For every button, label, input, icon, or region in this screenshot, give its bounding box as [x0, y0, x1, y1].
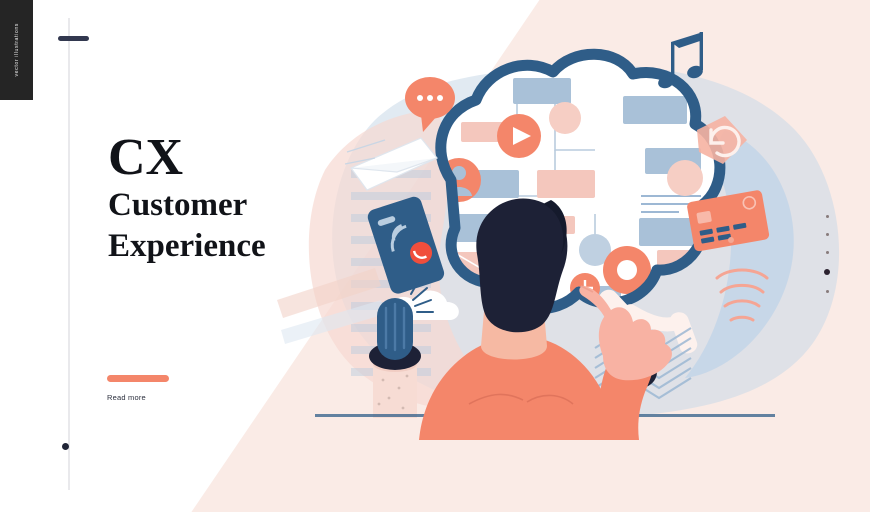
- rail-marker-dot: [62, 443, 69, 450]
- read-more-link[interactable]: Read more: [107, 393, 146, 402]
- pagination-dot-4[interactable]: [824, 269, 830, 275]
- pagination-dot-1[interactable]: [826, 215, 829, 218]
- flowchart-node: [549, 102, 581, 134]
- vertical-rail: [68, 18, 70, 490]
- pagination-dots[interactable]: [824, 215, 830, 293]
- title-line-1: Customer: [108, 187, 358, 224]
- title-line-2: Experience: [108, 228, 358, 265]
- page-title: CX Customer Experience: [108, 133, 358, 265]
- pagination-dot-5[interactable]: [826, 290, 829, 293]
- flowchart-node: [667, 160, 703, 196]
- vector-illustrations-tag: vector illustrations: [0, 0, 33, 100]
- flowchart-box: [513, 78, 571, 104]
- play-button-icon: [497, 114, 541, 158]
- flowchart-box: [537, 170, 595, 198]
- accent-dot: [728, 237, 734, 243]
- hero-banner: vector illustrations CX Customer Experie…: [0, 0, 870, 512]
- pagination-dot-3[interactable]: [826, 251, 829, 254]
- title-abbreviation: CX: [108, 133, 358, 183]
- flowchart-box: [623, 96, 687, 124]
- tag-label: vector illustrations: [14, 23, 20, 77]
- pagination-dot-2[interactable]: [826, 233, 829, 236]
- rail-marker-bar: [58, 36, 89, 41]
- read-more-accent-bar: [107, 375, 169, 382]
